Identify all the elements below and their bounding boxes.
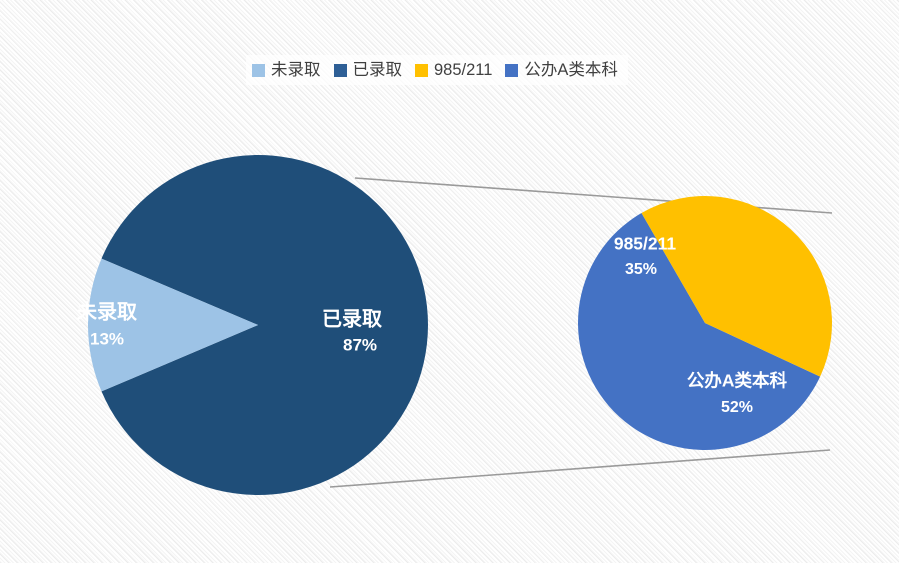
secondary-slice-name-1: 985/211 — [614, 234, 677, 254]
secondary-slice-name-0: 公办A类本科 — [687, 371, 788, 391]
chart-container: 已录取87%未录取13%公办A类本科52%985/21135% 未录取 已录取 … — [0, 0, 899, 563]
legend-swatch-icon-0 — [252, 64, 265, 77]
legend-label-0: 未录取 — [271, 62, 321, 79]
secondary-slice-percent-1: 35% — [625, 261, 657, 278]
connector-top — [355, 178, 832, 213]
legend-swatch-icon-3 — [505, 64, 518, 77]
legend-item-2[interactable]: 985/211 — [415, 62, 492, 79]
chart-legend: 未录取 已录取 985/211 公办A类本科 — [246, 55, 628, 85]
legend-swatch-icon-1 — [334, 64, 347, 77]
legend-item-1[interactable]: 已录取 — [334, 62, 403, 79]
secondary-slice-percent-0: 52% — [721, 399, 753, 416]
primary-slice-name-0: 已录取 — [322, 308, 382, 330]
legend-item-3[interactable]: 公办A类本科 — [505, 62, 618, 79]
primary-slice-name-1: 未录取 — [77, 300, 137, 323]
legend-label-1: 已录取 — [353, 62, 403, 79]
primary-slice-percent-1: 13% — [90, 329, 124, 348]
legend-item-0[interactable]: 未录取 — [252, 62, 321, 79]
legend-label-3: 公办A类本科 — [524, 62, 618, 79]
legend-label-2: 985/211 — [434, 62, 492, 79]
legend-swatch-icon-2 — [415, 64, 428, 77]
primary-slice-percent-0: 87% — [343, 335, 377, 354]
connector-bottom — [330, 450, 830, 487]
